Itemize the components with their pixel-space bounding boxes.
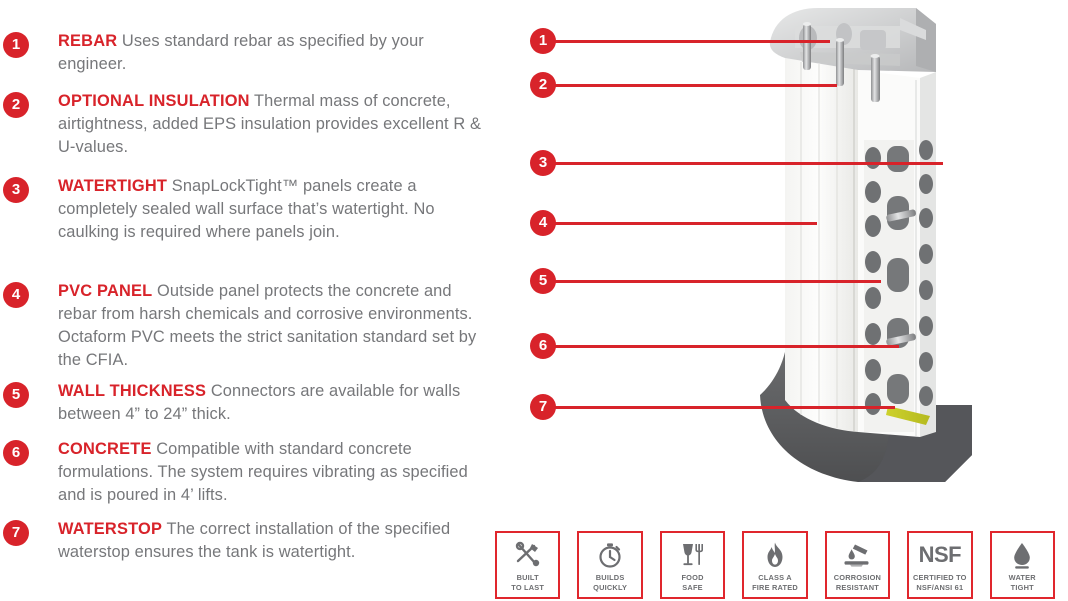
callout-number: 6 (530, 333, 556, 359)
feature-text: PVC PANEL Outside panel protects the con… (58, 280, 495, 372)
nsf-wordmark: NSF (919, 542, 962, 568)
hammer-wrench-icon (514, 540, 542, 570)
feature-number-badge: 1 (3, 32, 29, 58)
water-drop-icon (1011, 540, 1033, 570)
feature-text: OPTIONAL INSULATION Thermal mass of conc… (58, 90, 495, 159)
feature-keyword: WALL THICKNESS (58, 382, 206, 400)
wall-cutaway-svg (740, 0, 1010, 500)
feature-list: 1 REBAR Uses standard rebar as specified… (0, 0, 495, 601)
certification-badge-strip: BUILT TO LAST BUILDS QUICKLY FO (495, 531, 1055, 601)
feature-keyword: REBAR (58, 32, 117, 50)
feature-number-badge: 4 (3, 282, 29, 308)
feature-text: CONCRETE Compatible with standard concre… (58, 438, 495, 507)
badge-label: WATER TIGHT (1009, 573, 1036, 591)
badge-corrosion-resistant[interactable]: CORROSION RESISTANT (825, 531, 890, 599)
badge-label: BUILDS QUICKLY (593, 573, 627, 591)
feature-number-badge: 3 (3, 177, 29, 203)
badge-class-a-fire-rated[interactable]: CLASS A FIRE RATED (742, 531, 807, 599)
callout-number: 1 (530, 28, 556, 54)
nsf-mark-icon: NSF (919, 540, 962, 570)
pvc-liner-panel (785, 58, 858, 432)
badge-food-safe[interactable]: FOOD SAFE (660, 531, 725, 599)
badge-label: CLASS A FIRE RATED (752, 573, 798, 591)
feature-item-concrete: 6 CONCRETE Compatible with standard conc… (0, 438, 495, 507)
feature-keyword: OPTIONAL INSULATION (58, 92, 250, 110)
badge-water-tight[interactable]: WATER TIGHT (990, 531, 1055, 599)
feature-item-waterstop: 7 WATERSTOP The correct installation of … (0, 518, 495, 564)
outer-pvc-panel-with-connectors (858, 70, 936, 437)
badge-built-to-last[interactable]: BUILT TO LAST (495, 531, 560, 599)
feature-number-badge: 7 (3, 520, 29, 546)
callout-number: 3 (530, 150, 556, 176)
corrosion-drop-icon (842, 540, 872, 570)
feature-text: WATERSTOP The correct installation of th… (58, 518, 495, 564)
stopwatch-icon (597, 540, 623, 570)
badge-label: BUILT TO LAST (511, 573, 544, 591)
glass-fork-icon (680, 540, 706, 570)
feature-item-watertight: 3 WATERTIGHT SnapLockTight™ panels creat… (0, 175, 495, 244)
feature-item-pvc-panel: 4 PVC PANEL Outside panel protects the c… (0, 280, 495, 372)
feature-number-badge: 5 (3, 382, 29, 408)
feature-number-badge: 6 (3, 440, 29, 466)
feature-number-badge: 2 (3, 92, 29, 118)
feature-keyword: WATERSTOP (58, 520, 162, 538)
feature-keyword: WATERTIGHT (58, 177, 167, 195)
feature-item-optional-insulation: 2 OPTIONAL INSULATION Thermal mass of co… (0, 90, 495, 159)
badge-builds-quickly[interactable]: BUILDS QUICKLY (577, 531, 642, 599)
badge-label: CERTIFIED TO NSF/ANSI 61 (913, 573, 967, 591)
flame-icon (763, 540, 787, 570)
badge-nsf-certified[interactable]: NSF CERTIFIED TO NSF/ANSI 61 (907, 531, 972, 599)
badge-label: FOOD SAFE (681, 573, 703, 591)
feature-keyword: CONCRETE (58, 440, 152, 458)
callout-number: 4 (530, 210, 556, 236)
badge-label: CORROSION RESISTANT (834, 573, 881, 591)
feature-text: REBAR Uses standard rebar as specified b… (58, 30, 495, 76)
feature-item-rebar: 1 REBAR Uses standard rebar as specified… (0, 30, 495, 76)
feature-item-wall-thickness: 5 WALL THICKNESS Connectors are availabl… (0, 380, 495, 426)
feature-text: WALL THICKNESS Connectors are available … (58, 380, 495, 426)
feature-keyword: PVC PANEL (58, 282, 152, 300)
callout-number: 7 (530, 394, 556, 420)
feature-text: WATERTIGHT SnapLockTight™ panels create … (58, 175, 495, 244)
callout-number: 5 (530, 268, 556, 294)
wall-cutaway-diagram (740, 0, 1010, 500)
callout-number: 2 (530, 72, 556, 98)
